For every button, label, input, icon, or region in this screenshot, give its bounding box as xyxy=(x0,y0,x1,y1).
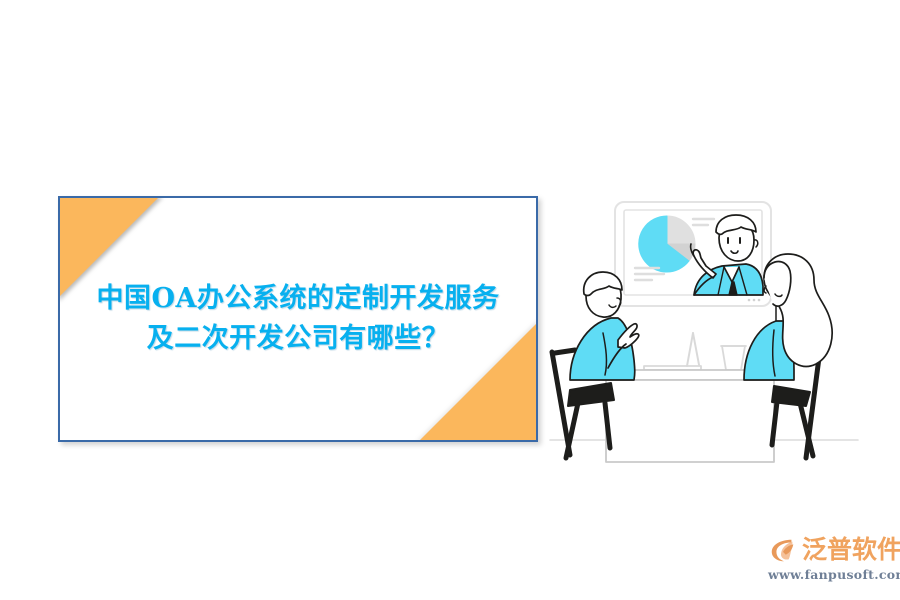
wall-screen xyxy=(615,202,771,306)
meeting-illustration-svg xyxy=(548,190,860,492)
page-title: 中国OA办公系统的定制开发服务 及二次开发公司有哪些？ xyxy=(60,279,536,359)
brand-logo: 泛普软件 www.fanpusoft.com xyxy=(768,534,892,586)
brand-url: www.fanpusoft.com xyxy=(768,567,892,582)
pie-chart xyxy=(639,216,695,272)
meeting-illustration xyxy=(548,190,860,492)
title-card: 中国OA办公系统的定制开发服务 及二次开发公司有哪些？ xyxy=(58,196,538,442)
table-body xyxy=(606,380,774,462)
fanpu-swoosh-icon xyxy=(768,535,798,565)
slide-canvas: 中国OA办公系统的定制开发服务 及二次开发公司有哪些？ xyxy=(0,0,900,600)
laptop xyxy=(644,333,701,370)
title-line-1: 中国OA办公系统的定制开发服务 xyxy=(60,279,536,319)
title-line-2: 及二次开发公司有哪些？ xyxy=(60,319,536,359)
cup xyxy=(721,346,746,370)
brand-name: 泛普软件 xyxy=(802,535,900,565)
